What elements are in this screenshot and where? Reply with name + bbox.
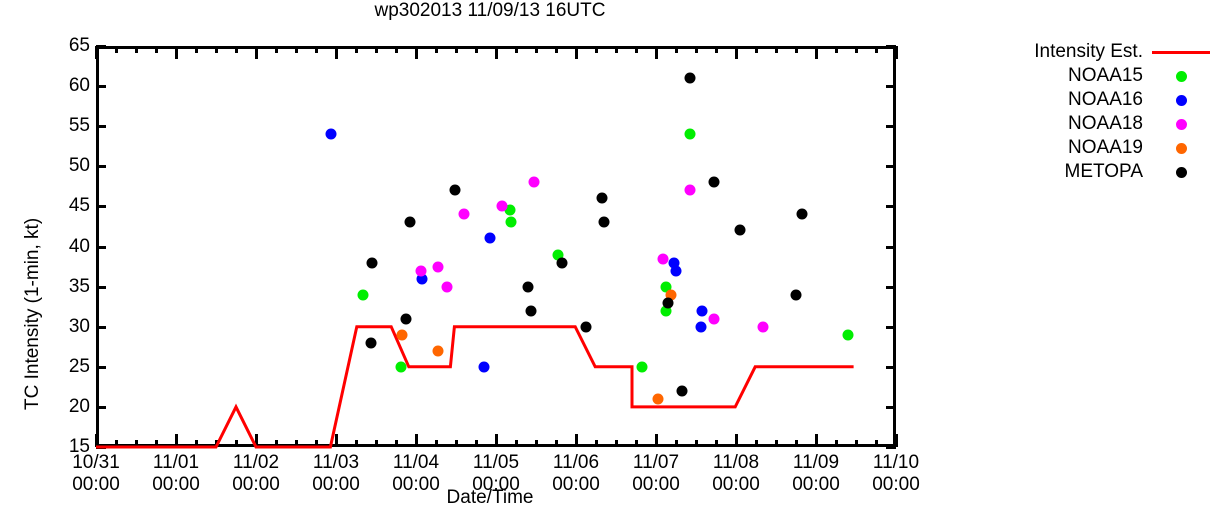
data-point-METOPA xyxy=(797,209,808,220)
dot-glyph-icon xyxy=(1176,119,1187,130)
data-point-NOAA15 xyxy=(395,361,406,372)
data-point-METOPA xyxy=(599,217,610,228)
data-point-METOPA xyxy=(663,297,674,308)
x-tick-9: 11/0900:00 xyxy=(771,452,861,496)
x-tick-1: 11/0100:00 xyxy=(131,452,221,496)
data-point-METOPA xyxy=(526,305,537,316)
data-point-NOAA15 xyxy=(506,217,517,228)
data-point-NOAA18 xyxy=(658,253,669,264)
data-point-NOAA18 xyxy=(496,201,507,212)
y-tick-65: 65 xyxy=(50,35,90,57)
legend-label: NOAA15 xyxy=(1068,65,1143,87)
data-point-NOAA16 xyxy=(695,321,706,332)
x-tick-10: 11/1000:00 xyxy=(851,452,941,496)
dot-glyph-icon xyxy=(1176,71,1187,82)
legend-label: NOAA16 xyxy=(1068,89,1143,111)
dot-glyph-icon xyxy=(1176,167,1187,178)
data-point-NOAA18 xyxy=(708,313,719,324)
legend-dot-swatch xyxy=(1151,143,1211,154)
legend-line-swatch xyxy=(1151,51,1211,54)
intensity-est-line xyxy=(96,46,896,447)
legend-item-noaa15: NOAA15 xyxy=(960,64,1211,88)
legend-item-noaa19: NOAA19 xyxy=(960,136,1211,160)
data-point-METOPA xyxy=(405,217,416,228)
x-tick-3: 11/0300:00 xyxy=(291,452,381,496)
x-tick-4: 11/0400:00 xyxy=(371,452,461,496)
dot-glyph-icon xyxy=(1176,95,1187,106)
data-point-METOPA xyxy=(597,193,608,204)
legend-dot-swatch xyxy=(1151,119,1211,130)
data-point-NOAA15 xyxy=(843,329,854,340)
dot-glyph-icon xyxy=(1176,143,1187,154)
data-point-NOAA16 xyxy=(697,305,708,316)
data-point-NOAA18 xyxy=(432,261,443,272)
data-point-METOPA xyxy=(366,337,377,348)
y-tick-40: 40 xyxy=(50,236,90,258)
data-point-METOPA xyxy=(401,313,412,324)
data-point-NOAA19 xyxy=(432,345,443,356)
y-tick-55: 55 xyxy=(50,115,90,137)
data-point-NOAA15 xyxy=(684,129,695,140)
chart-page: wp302013 11/09/13 16UTC TC Intensity (1-… xyxy=(0,0,1211,517)
x-tick-5: 11/0500:00 xyxy=(451,452,541,496)
legend-dot-swatch xyxy=(1151,95,1211,106)
intensity-est-polyline xyxy=(96,327,854,447)
x-tick-6: 11/0600:00 xyxy=(531,452,621,496)
x-tick-7: 11/0700:00 xyxy=(611,452,701,496)
y-tick-20: 20 xyxy=(50,396,90,418)
legend-label: Intensity Est. xyxy=(1034,41,1143,63)
y-tick-25: 25 xyxy=(50,356,90,378)
y-axis-label: TC Intensity (1-min, kt) xyxy=(22,218,44,410)
data-point-NOAA15 xyxy=(358,289,369,300)
y-tick-50: 50 xyxy=(50,155,90,177)
data-point-NOAA18 xyxy=(415,265,426,276)
data-point-NOAA18 xyxy=(459,209,470,220)
y-axis-tick-labels: 1520253035404550556065 xyxy=(46,46,90,447)
data-point-NOAA18 xyxy=(685,185,696,196)
data-point-NOAA16 xyxy=(671,265,682,276)
legend-dot-swatch xyxy=(1151,167,1211,178)
legend-item-noaa18: NOAA18 xyxy=(960,112,1211,136)
data-point-NOAA19 xyxy=(653,393,664,404)
data-point-METOPA xyxy=(791,289,802,300)
legend-item-noaa16: NOAA16 xyxy=(960,88,1211,112)
data-point-NOAA16 xyxy=(485,233,496,244)
data-point-NOAA16 xyxy=(479,361,490,372)
legend-item-intensityest: Intensity Est. xyxy=(960,40,1211,64)
data-point-NOAA19 xyxy=(396,329,407,340)
data-point-METOPA xyxy=(557,257,568,268)
legend-label: NOAA18 xyxy=(1068,113,1143,135)
y-tick-35: 35 xyxy=(50,276,90,298)
x-tick-2: 11/0200:00 xyxy=(211,452,301,496)
data-point-METOPA xyxy=(450,185,461,196)
y-tick-45: 45 xyxy=(50,195,90,217)
data-point-NOAA18 xyxy=(442,281,453,292)
line-glyph-icon xyxy=(1152,51,1210,54)
data-point-METOPA xyxy=(523,281,534,292)
legend-dot-swatch xyxy=(1151,71,1211,82)
data-point-METOPA xyxy=(708,177,719,188)
y-tick-60: 60 xyxy=(50,75,90,97)
x-tick-8: 11/0800:00 xyxy=(691,452,781,496)
plot-area xyxy=(96,46,896,447)
x-tick-0: 10/3100:00 xyxy=(51,452,141,496)
y-tick-30: 30 xyxy=(50,316,90,338)
data-point-METOPA xyxy=(735,225,746,236)
data-point-NOAA18 xyxy=(758,321,769,332)
data-point-METOPA xyxy=(685,73,696,84)
data-point-METOPA xyxy=(367,257,378,268)
data-point-METOPA xyxy=(677,385,688,396)
data-point-METOPA xyxy=(580,321,591,332)
data-point-NOAA15 xyxy=(637,361,648,372)
data-point-NOAA16 xyxy=(326,129,337,140)
chart-title: wp302013 11/09/13 16UTC xyxy=(0,0,980,22)
data-point-NOAA18 xyxy=(529,177,540,188)
legend-item-metopa: METOPA xyxy=(960,160,1211,184)
legend-label: NOAA19 xyxy=(1068,137,1143,159)
legend-label: METOPA xyxy=(1065,161,1143,183)
chart-legend: Intensity Est.NOAA15NOAA16NOAA18NOAA19ME… xyxy=(960,40,1211,184)
